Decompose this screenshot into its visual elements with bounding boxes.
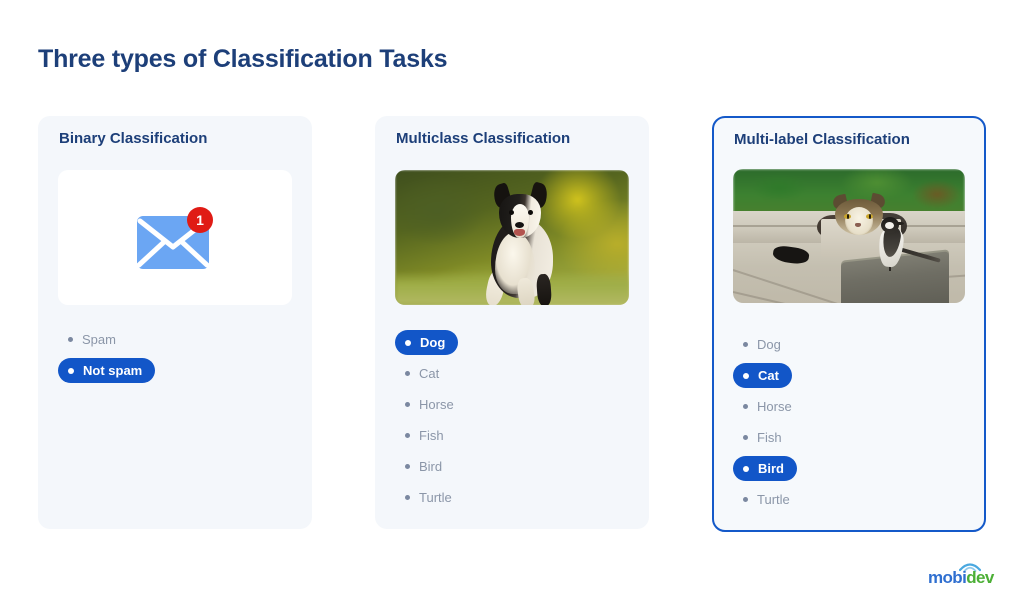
logo-text-mobi: mobi [928,568,966,587]
card-title: Binary Classification [59,130,207,147]
logo-text-dev: dev [966,568,994,587]
label-text: Not spam [83,363,142,378]
bullet-dot-icon [743,404,748,409]
unread-count-badge: 1 [187,207,213,233]
label-text: Bird [419,459,442,474]
label-text: Dog [420,335,445,350]
bullet-dot-icon [743,342,748,347]
bullet-dot-icon [405,464,410,469]
photo-scene [395,170,629,305]
list-item[interactable]: Turtle [733,487,803,512]
list-item[interactable]: Horse [395,392,467,417]
list-item[interactable]: Bird [395,454,455,479]
classification-cards-row: Binary Classification 1 Spam Not spam [0,116,1024,534]
label-text: Cat [758,368,779,383]
dog-running-photo [395,170,629,305]
card-title: Multiclass Classification [396,130,570,147]
email-media-panel: 1 [58,170,292,305]
bullet-dot-icon [405,340,411,346]
label-text: Horse [419,397,454,412]
bullet-dot-icon [743,466,749,472]
card-multiclass-classification[interactable]: Multiclass Classification [375,116,649,529]
label-text: Cat [419,366,439,381]
label-text: Horse [757,399,792,414]
dog-eye-left [509,210,514,215]
dog-mouth [514,229,525,236]
bullet-dot-icon [405,495,410,500]
label-list-multiclass: Dog Cat Horse Fish Bird Turtle [395,330,631,516]
bullet-dot-icon [68,368,74,374]
bullet-dot-icon [405,402,410,407]
label-list-multi-label: Dog Cat Horse Fish Bird Turtle [733,332,969,518]
label-list-binary: Spam Not spam [58,327,294,389]
label-text: Bird [758,461,784,476]
card-title: Multi-label Classification [734,131,910,148]
cat-nose [855,223,861,227]
label-text: Turtle [757,492,790,507]
label-text: Fish [757,430,782,445]
list-item[interactable]: Not spam [58,358,155,383]
card-binary-classification[interactable]: Binary Classification 1 Spam Not spam [38,116,312,529]
list-item[interactable]: Fish [395,423,457,448]
bullet-dot-icon [743,373,749,379]
cat-and-bird-photo [733,169,965,303]
cat-eye-left [844,214,851,219]
label-text: Dog [757,337,781,352]
list-item[interactable]: Cat [733,363,792,388]
mobidev-logo: mobidev [928,561,1006,587]
list-item[interactable]: Dog [395,330,458,355]
list-item[interactable]: Fish [733,425,795,450]
label-text: Spam [82,332,116,347]
bird-beak [897,222,904,225]
list-item[interactable]: Bird [733,456,797,481]
logo-wordmark: mobidev [928,569,994,587]
list-item[interactable]: Cat [395,361,452,386]
page-title: Three types of Classification Tasks [38,45,447,74]
list-item[interactable]: Turtle [395,485,465,510]
list-item[interactable]: Horse [733,394,805,419]
cat-face [845,207,873,235]
cat-eye-right [866,214,873,219]
label-text: Turtle [419,490,452,505]
dog-nose [515,222,524,228]
email-envelope-icon: 1 [137,207,213,269]
bullet-dot-icon [68,337,73,342]
card-multi-label-classification[interactable]: Multi-label Classification [712,116,986,532]
list-item[interactable]: Spam [58,327,129,352]
bullet-dot-icon [405,433,410,438]
photo-scene [733,169,965,303]
bullet-dot-icon [743,435,748,440]
list-item[interactable]: Dog [733,332,794,357]
bird-cheek [885,222,894,229]
bullet-dot-icon [405,371,410,376]
bullet-dot-icon [743,497,748,502]
label-text: Fish [419,428,444,443]
dog-eye-right [528,210,533,215]
